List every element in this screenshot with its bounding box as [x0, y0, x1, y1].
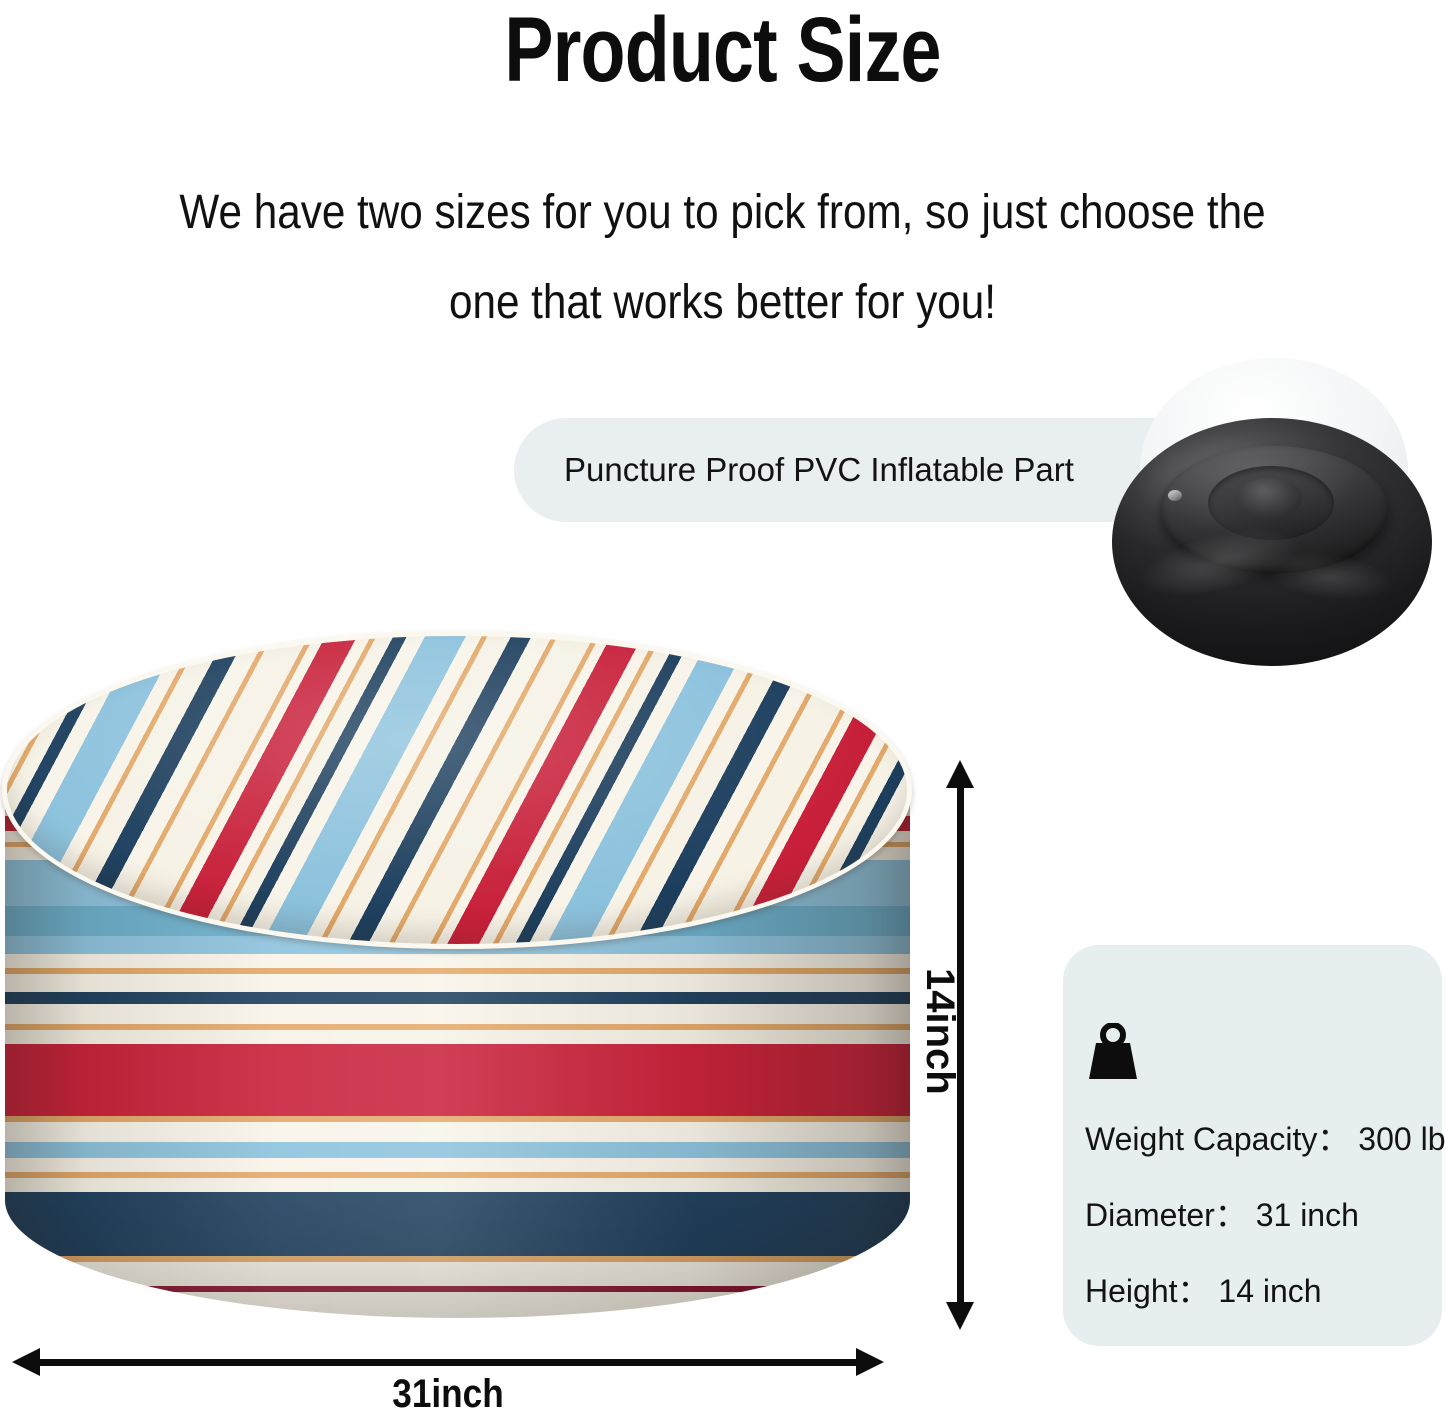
arrow-head-right-icon: [856, 1348, 884, 1376]
spec-row-height: Height： 14 inch: [1085, 1271, 1442, 1311]
subtitle-line-1: We have two sizes for you to pick from, …: [87, 168, 1359, 258]
spec-panel: Weight Capacity： 300 lbs Diameter： 31 in…: [1063, 945, 1442, 1346]
subtitle-line-2: one that works better for you!: [87, 258, 1359, 348]
callout-label: Puncture Proof PVC Inflatable Part: [514, 450, 1074, 490]
height-dimension-label: 14inch: [917, 968, 962, 1095]
arrow-shaft-horizontal: [28, 1359, 868, 1366]
page-title: Product Size: [145, 2, 1301, 98]
spec-row-diameter: Diameter： 31 inch: [1085, 1195, 1442, 1235]
striped-ottoman-image: [2, 634, 912, 1334]
spec-row-weight-capacity: Weight Capacity： 300 lbs: [1085, 1119, 1442, 1159]
inflatable-ring-inner: [1236, 478, 1302, 518]
arrow-head-down-icon: [946, 1302, 974, 1330]
weight-icon: [1085, 1023, 1141, 1081]
ottoman-top-surface: [5, 634, 910, 946]
air-valve-icon: [1168, 490, 1182, 501]
subtitle-block: We have two sizes for you to pick from, …: [0, 168, 1445, 348]
ottoman-bottom-shading: [5, 1198, 910, 1318]
ottoman-top-shading: [5, 634, 910, 946]
inflatable-part-image: [1112, 358, 1432, 666]
callout-pill: Puncture Proof PVC Inflatable Part: [514, 418, 1202, 522]
width-dimension-label: 31inch: [54, 1372, 842, 1417]
